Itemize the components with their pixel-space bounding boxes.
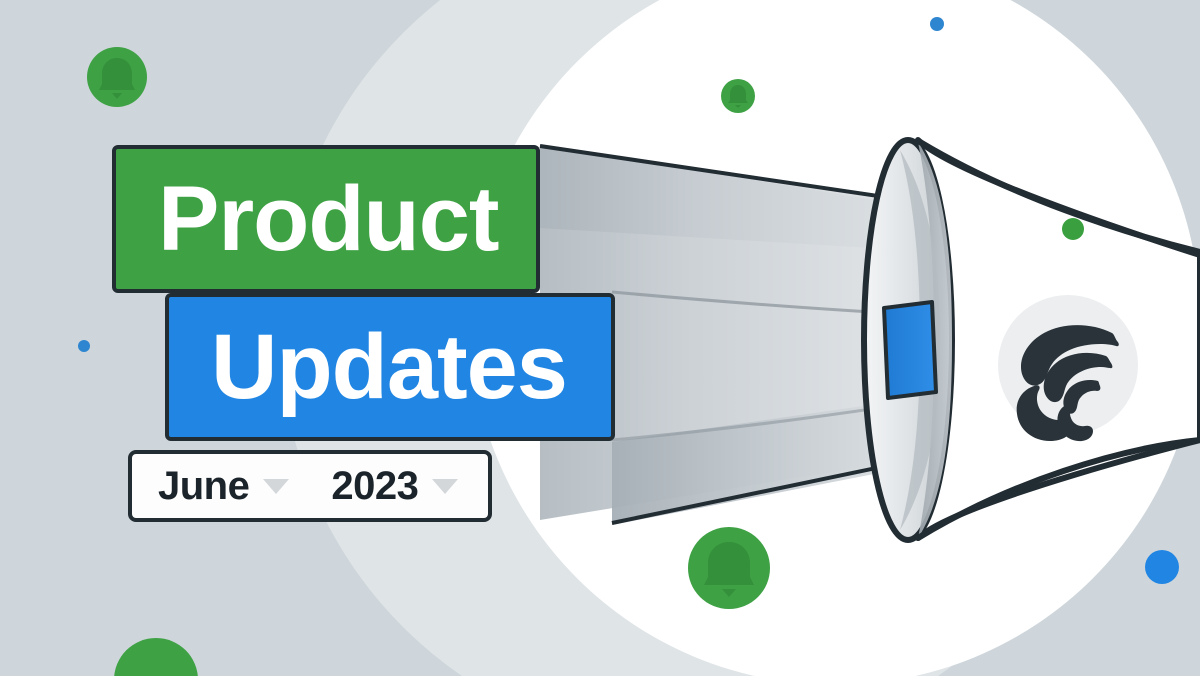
bell-badge-bottom bbox=[688, 527, 770, 609]
dot-green-on-wire bbox=[1062, 218, 1084, 240]
announcement-graphic: Product Updates June 2023 bbox=[0, 0, 1200, 676]
dot-blue-small-top bbox=[930, 17, 944, 31]
date-selector[interactable]: June 2023 bbox=[128, 450, 492, 522]
bell-badge-top-left bbox=[87, 47, 147, 107]
banner-product: Product bbox=[112, 145, 540, 293]
month-dropdown[interactable]: June bbox=[158, 464, 289, 509]
banner-updates: Updates bbox=[165, 293, 615, 441]
megaphone-blue-patch bbox=[884, 302, 936, 398]
chevron-down-icon[interactable] bbox=[432, 479, 458, 494]
year-value: 2023 bbox=[331, 464, 418, 509]
banner-updates-label: Updates bbox=[211, 321, 567, 413]
month-value: June bbox=[158, 464, 249, 509]
chevron-down-icon[interactable] bbox=[263, 479, 289, 494]
dot-blue-large-right bbox=[1145, 550, 1179, 584]
year-dropdown[interactable]: 2023 bbox=[331, 464, 458, 509]
bell-badge-top-mid bbox=[721, 79, 755, 113]
dot-blue-small-left bbox=[78, 340, 90, 352]
banner-product-label: Product bbox=[158, 173, 499, 265]
